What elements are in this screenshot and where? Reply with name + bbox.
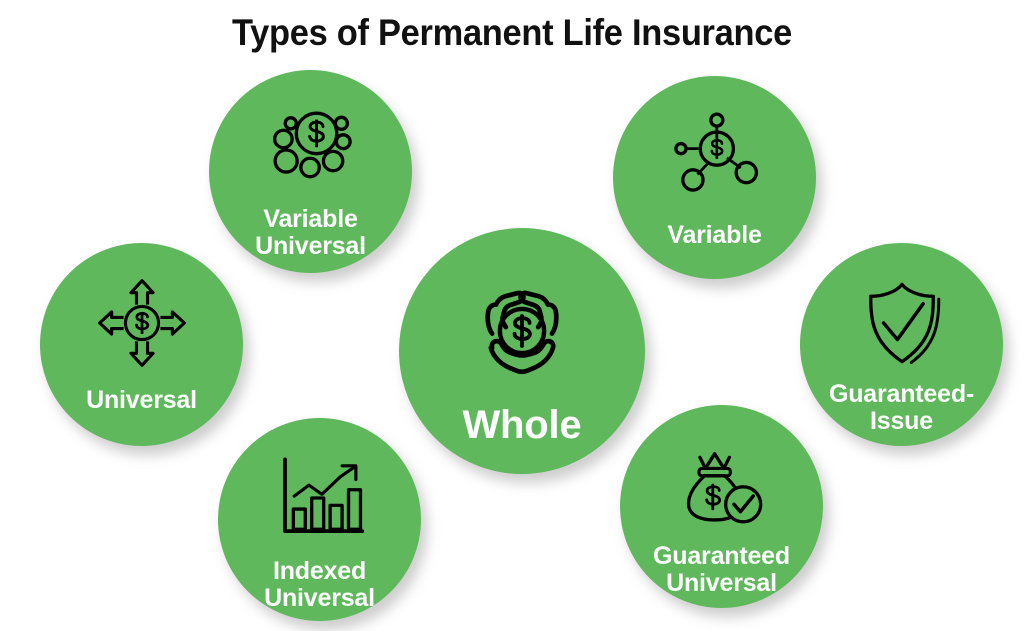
coins-cluster-dollar-icon bbox=[209, 104, 412, 196]
page-title: Types of Permanent Life Insurance bbox=[36, 12, 988, 54]
hands-protecting-dollar-coin-icon bbox=[399, 266, 645, 396]
bubble-variable-universal[interactable]: Variable Universal bbox=[209, 70, 412, 273]
shield-check-icon bbox=[800, 277, 1003, 369]
bubble-indexed-universal[interactable]: Indexed Universal bbox=[218, 418, 421, 621]
bubble-label: Variable bbox=[613, 222, 816, 249]
money-bag-check-icon bbox=[620, 439, 823, 531]
network-nodes-dollar-icon bbox=[613, 110, 816, 202]
bubble-whole[interactable]: Whole bbox=[399, 228, 645, 474]
bubble-label: Whole bbox=[399, 404, 645, 447]
bubble-label: Guaranteed Universal bbox=[620, 543, 823, 597]
bubble-label: Universal bbox=[40, 387, 243, 414]
bar-chart-growth-arrow-icon bbox=[218, 452, 421, 544]
bubble-universal[interactable]: Universal bbox=[40, 243, 243, 446]
bubble-guaranteed-universal[interactable]: Guaranteed Universal bbox=[620, 405, 823, 608]
bubble-label: Indexed Universal bbox=[218, 558, 421, 612]
bubble-label: Guaranteed- Issue bbox=[800, 381, 1003, 435]
dollar-coin-four-arrows-icon bbox=[40, 277, 243, 369]
infographic-canvas: Types of Permanent Life Insurance Variab… bbox=[0, 0, 1024, 631]
bubble-variable[interactable]: Variable bbox=[613, 76, 816, 279]
bubble-guaranteed-issue[interactable]: Guaranteed- Issue bbox=[800, 243, 1003, 446]
bubble-label: Variable Universal bbox=[209, 206, 412, 260]
